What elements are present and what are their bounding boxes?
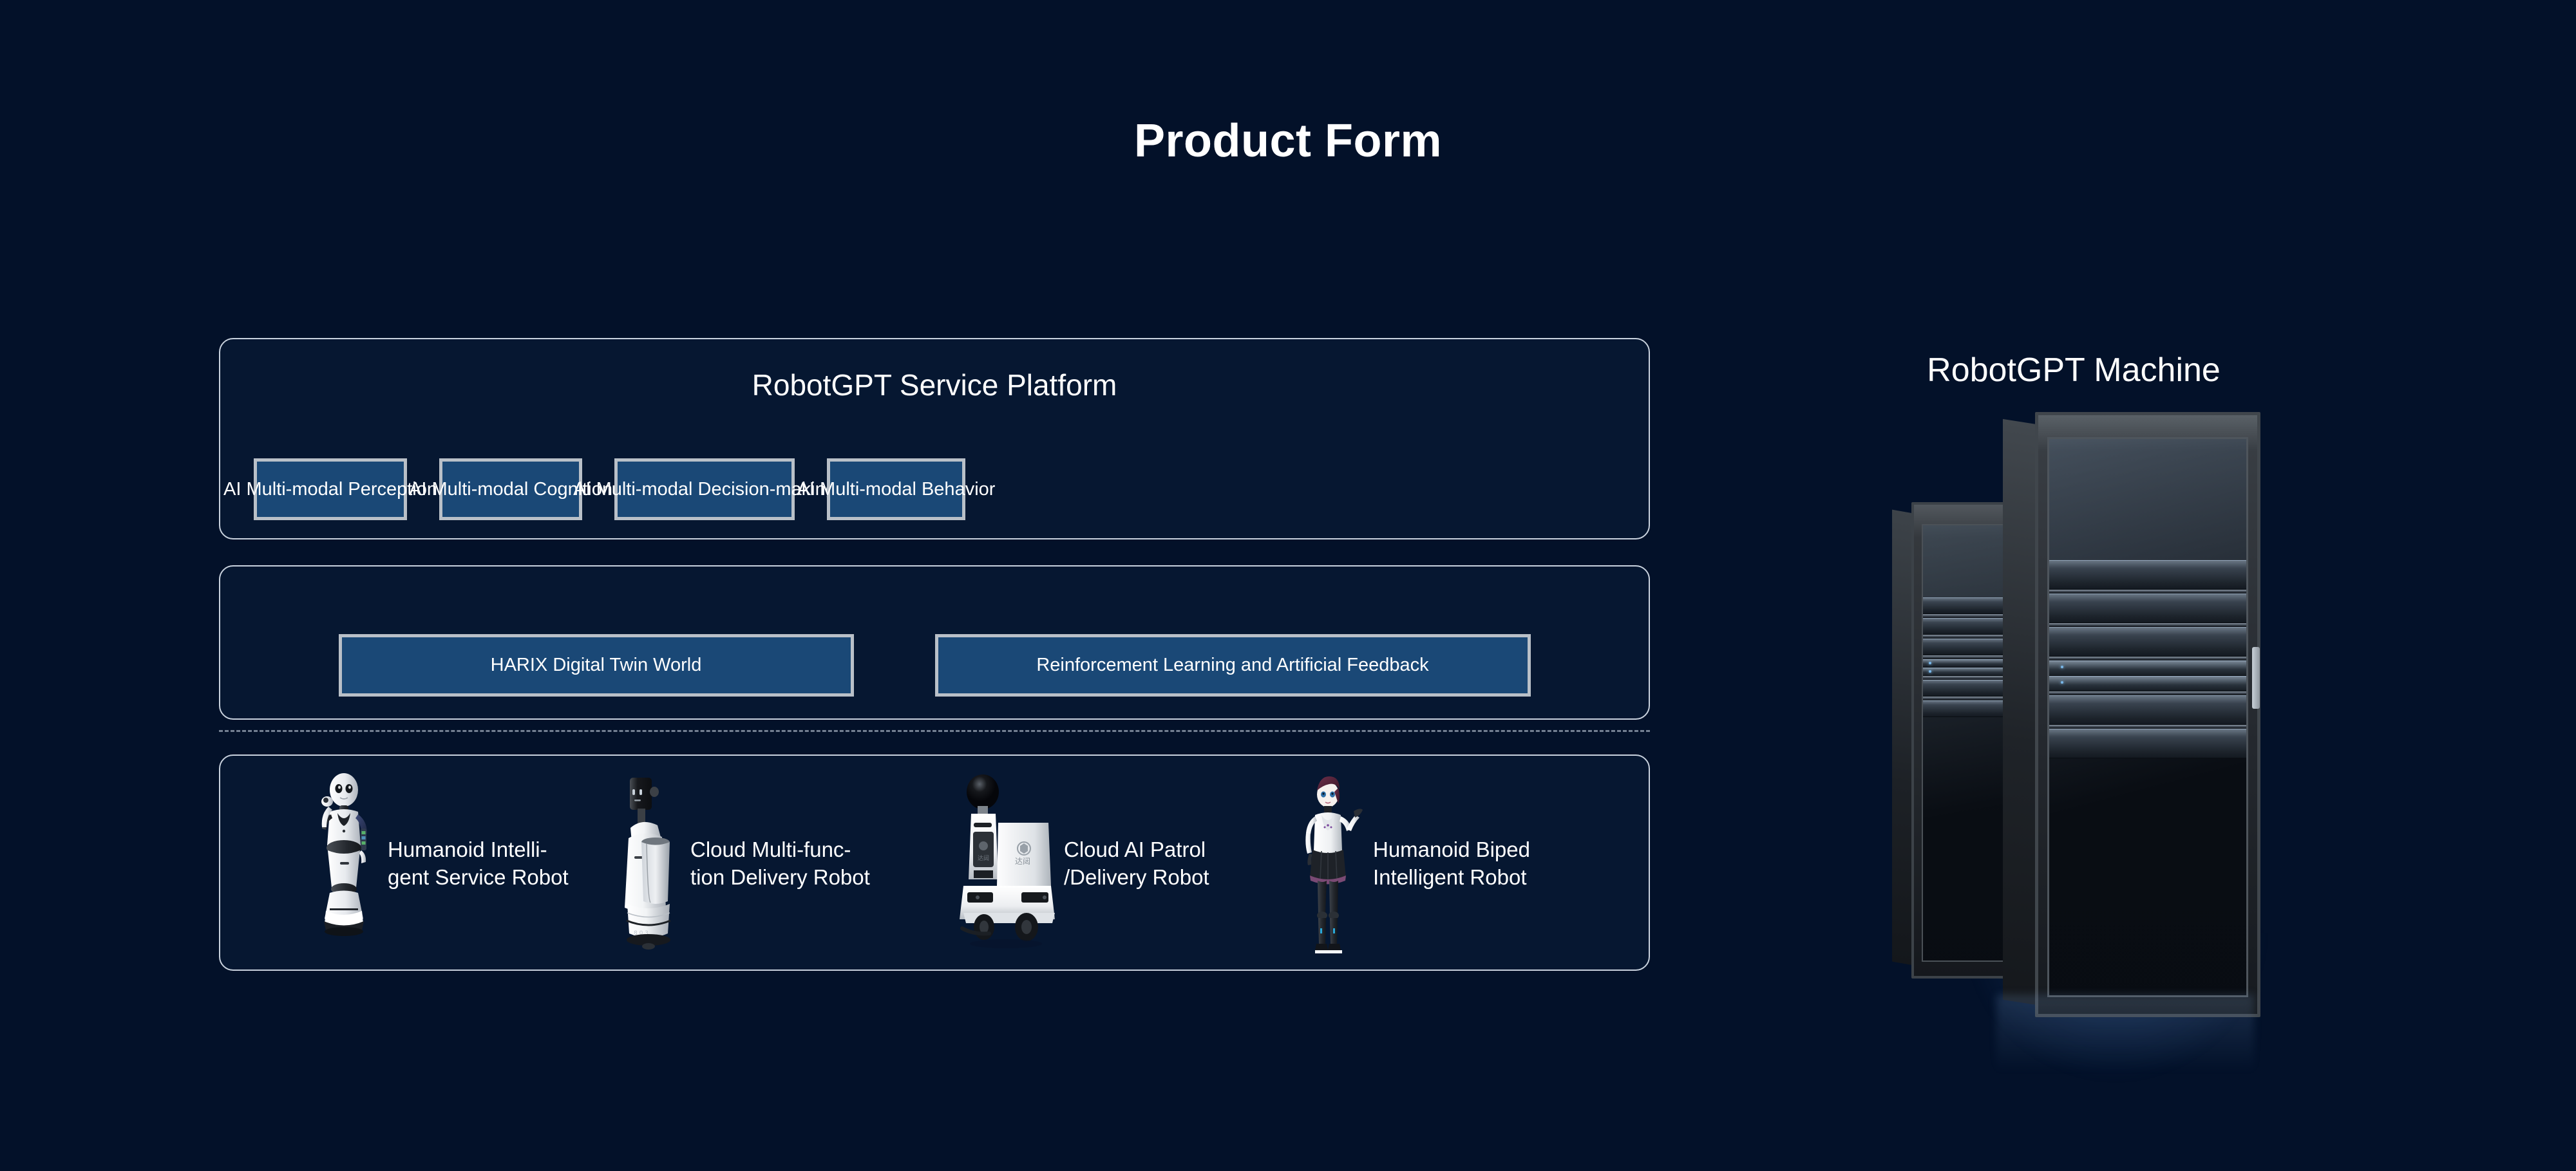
chip-label: Reinforcement Learning and Artificial Fe…: [1036, 655, 1428, 676]
rack-floor-reflection: [1996, 995, 2254, 1091]
robots-panel: Humanoid Intelli- gent Service Robot: [219, 754, 1650, 971]
rack-door-handle[interactable]: [2252, 647, 2260, 709]
list-item[interactable]: Humanoid Intelli- gent Service Robot: [304, 769, 613, 959]
rack-blade-stack: [2049, 560, 2246, 758]
robot-list: Humanoid Intelli- gent Service Robot: [304, 756, 1650, 972]
chip-ai-multimodal-cognition[interactable]: AI Multi-modal Cognition: [439, 458, 582, 520]
svg-text:达闼: 达闼: [978, 854, 989, 862]
robot-label: Humanoid Biped Intelligent Robot: [1373, 836, 1530, 892]
chip-label: AI Multi-modal Perception: [223, 479, 437, 500]
server-rack-icon: [1887, 412, 2286, 1043]
list-item[interactable]: 8 0 3 Cloud Multi-func- tion Delivery Ro…: [613, 766, 954, 962]
patrol-delivery-robot-icon: 达闼 达闼: [954, 766, 1057, 962]
humanoid-service-robot-icon: [304, 769, 381, 959]
list-item[interactable]: Humanoid Biped Intelligent Robot: [1289, 766, 1598, 962]
chip-ai-multimodal-perception[interactable]: AI Multi-modal Perception: [254, 458, 407, 520]
chip-reinforcement-learning-feedback[interactable]: Reinforcement Learning and Artificial Fe…: [935, 634, 1531, 697]
platform-panel-title: RobotGPT Service Platform: [220, 368, 1649, 402]
chip-ai-multimodal-decision-making[interactable]: AI Multi-modal Decision-making: [614, 458, 795, 520]
chip-label: AI Multi-modal Behavior: [797, 479, 996, 500]
robot-label: Humanoid Intelli- gent Service Robot: [388, 836, 569, 892]
cloud-delivery-robot-icon: 8 0 3: [613, 766, 684, 962]
biped-humanoid-robot-icon: [1289, 766, 1367, 962]
chip-harix-digital-twin-world[interactable]: HARIX Digital Twin World: [339, 634, 854, 697]
world-chip-row: HARIX Digital Twin World Reinforcement L…: [220, 634, 1649, 697]
platform-panel: RobotGPT Service Platform AI Multi-modal…: [219, 338, 1650, 539]
world-panel: HARIX Digital Twin World Reinforcement L…: [219, 565, 1650, 720]
list-item[interactable]: 达闼 达闼: [954, 766, 1289, 962]
server-rack-large: [2003, 412, 2260, 1017]
robot-label: Cloud AI Patrol /Delivery Robot: [1064, 836, 1209, 892]
machine-section-title: RobotGPT Machine: [1752, 351, 2396, 389]
page-title: Product Form: [0, 115, 2576, 167]
svg-text:达闼: 达闼: [1015, 857, 1030, 866]
section-divider: [219, 730, 1650, 732]
chip-label: HARIX Digital Twin World: [491, 655, 702, 676]
chip-ai-multimodal-behavior[interactable]: AI Multi-modal Behavior: [827, 458, 965, 520]
rack-glass-door: [2047, 437, 2248, 997]
robot-label: Cloud Multi-func- tion Delivery Robot: [690, 836, 870, 892]
rack-front-face: [2035, 412, 2260, 1017]
capability-chip-row: AI Multi-modal Perception AI Multi-modal…: [254, 458, 965, 520]
